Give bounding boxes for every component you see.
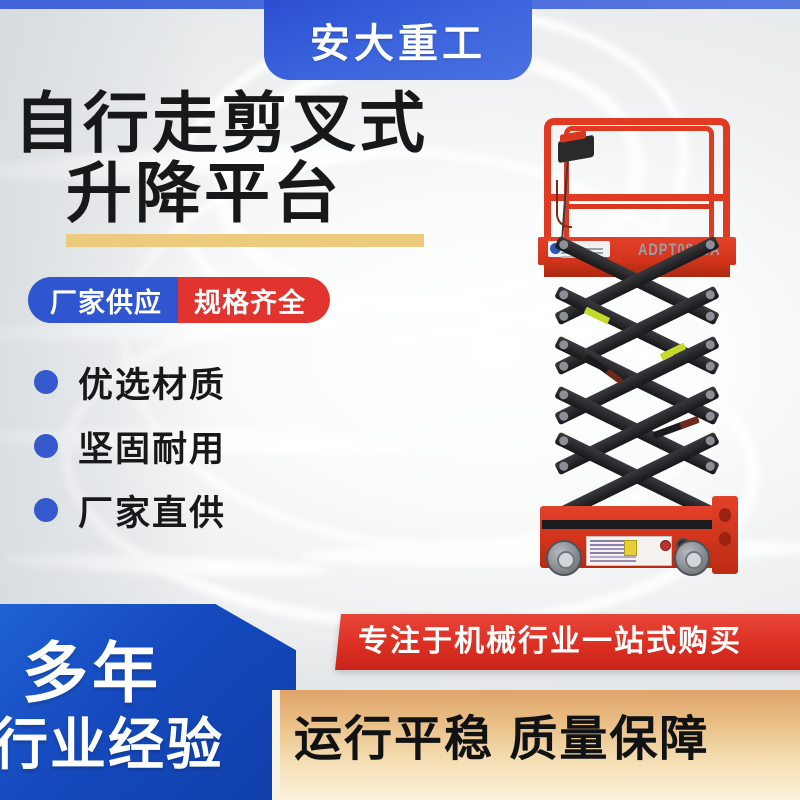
feature-label: 坚固耐用 bbox=[78, 421, 226, 472]
promo-banner: 安大重工 自行走剪叉式 升降平台 厂家供应 规格齐全 优选材质 坚固耐用 厂家直… bbox=[0, 0, 800, 800]
feature-label: 厂家直供 bbox=[78, 485, 226, 536]
bullet-dot-icon bbox=[34, 498, 58, 522]
brand-name: 安大重工 bbox=[310, 11, 486, 69]
chassis-warning-sticker bbox=[624, 540, 637, 556]
headline-line-2: 升降平台 bbox=[14, 158, 514, 228]
headline: 自行走剪叉式 升降平台 bbox=[14, 88, 514, 228]
headline-underline bbox=[66, 234, 424, 247]
pill-full-specs[interactable]: 规格齐全 bbox=[178, 277, 330, 323]
chassis-black-strip bbox=[542, 520, 718, 529]
chassis-rear-tower bbox=[712, 496, 738, 574]
scissor-lattice bbox=[548, 274, 726, 486]
platform-guardrail-midbar2 bbox=[564, 204, 714, 209]
bullet-dot-icon bbox=[34, 370, 58, 394]
pill-supplier[interactable]: 厂家供应 bbox=[28, 277, 178, 323]
experience-block: 多年 行业经验 bbox=[0, 604, 296, 800]
red-tagline-banner: 专注于机械行业一站式购买 bbox=[335, 614, 800, 670]
list-item: 优选材质 bbox=[34, 352, 226, 412]
chassis bbox=[528, 496, 742, 584]
experience-line-2: 行业经验 bbox=[0, 700, 224, 781]
gold-footer-bar: 运行平稳 质量保障 bbox=[280, 690, 800, 800]
brand-badge: 安大重工 bbox=[264, 0, 532, 80]
emergency-stop-knob bbox=[660, 540, 671, 551]
headline-line-1: 自行走剪叉式 bbox=[14, 88, 514, 158]
list-item: 坚固耐用 bbox=[34, 416, 226, 476]
feature-label: 优选材质 bbox=[78, 357, 226, 408]
hydraulic-hose bbox=[556, 180, 572, 228]
feature-list: 优选材质 坚固耐用 厂家直供 bbox=[34, 352, 226, 544]
bullet-dot-icon bbox=[34, 434, 58, 458]
rear-wheel bbox=[674, 540, 710, 576]
red-tagline-text: 专注于机械行业一站式购买 bbox=[338, 614, 800, 670]
product-image-scissor-lift: ADPT0808A bbox=[520, 118, 750, 618]
badge-pill-group: 厂家供应 规格齐全 bbox=[28, 277, 330, 323]
list-item: 厂家直供 bbox=[34, 480, 226, 540]
front-wheel bbox=[546, 540, 582, 576]
gold-footer-text: 运行平稳 质量保障 bbox=[280, 690, 800, 790]
